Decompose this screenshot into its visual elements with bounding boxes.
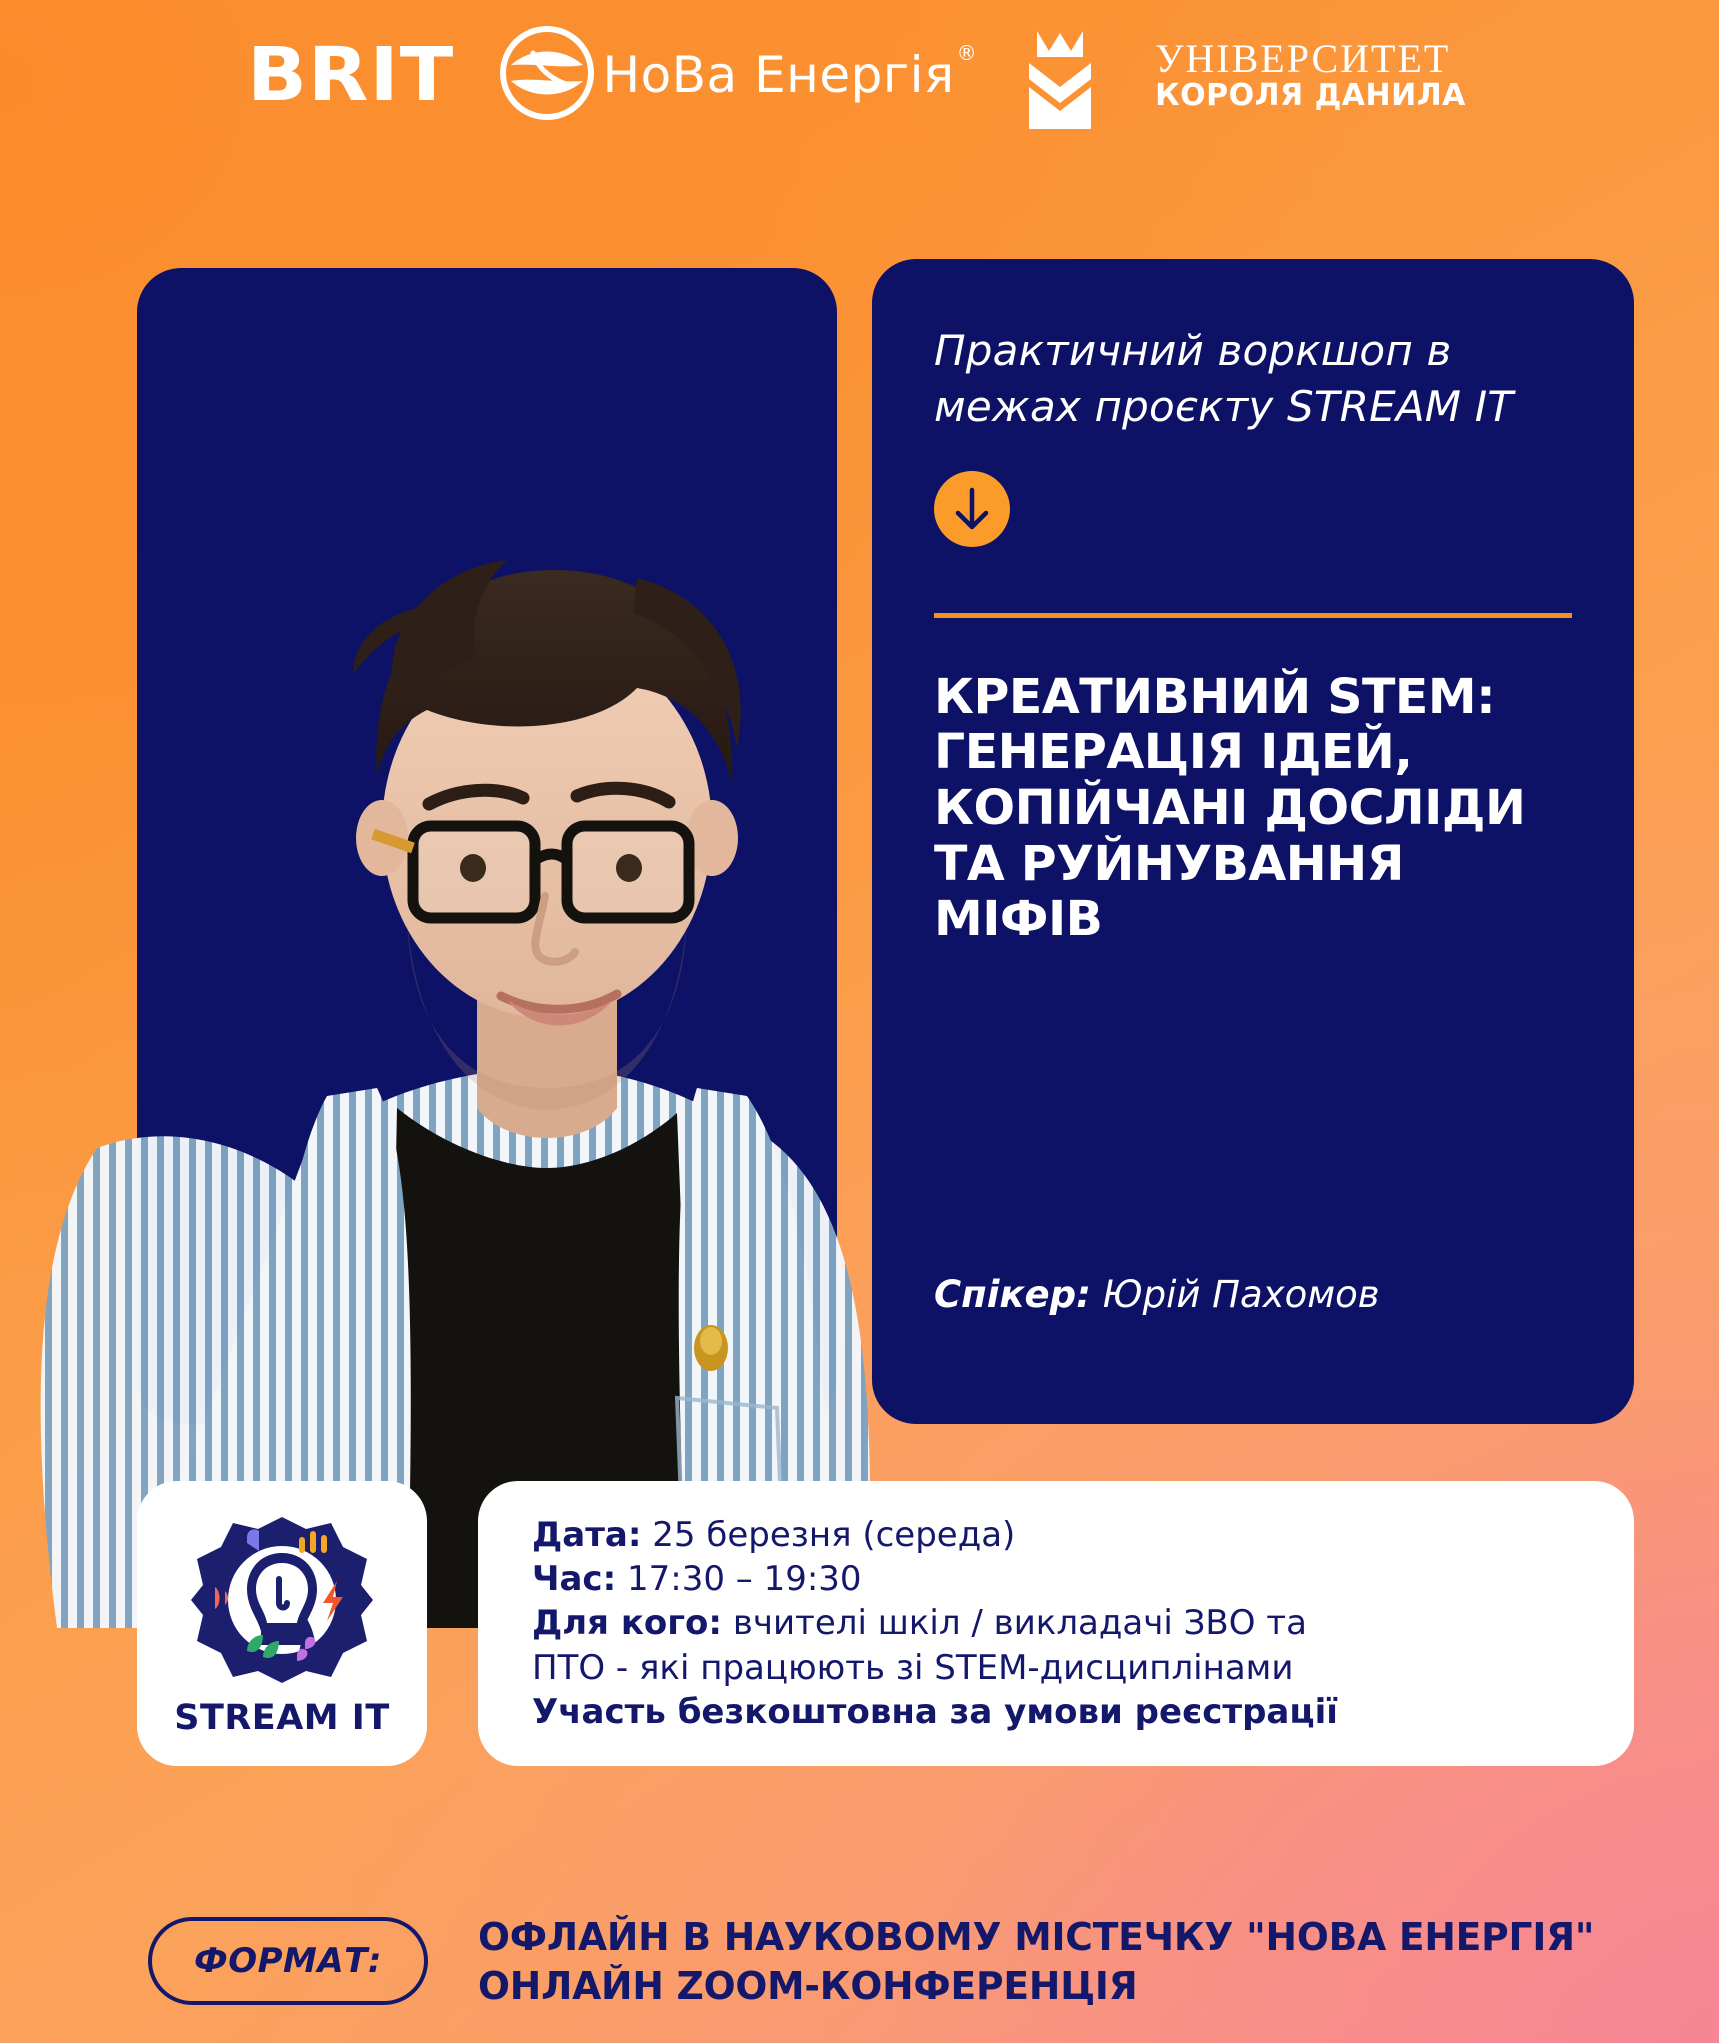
title-divider [934, 613, 1572, 618]
event-time-line: Час: 17:30 – 19:30 [532, 1557, 1580, 1601]
nova-energy-leaf-icon [497, 23, 597, 128]
speaker-label: Спікер: [934, 1273, 1091, 1316]
stream-it-label: STREAM IT [174, 1698, 389, 1738]
format-offline-line: ОФЛАЙН В НАУКОВОМУ МІСТЕЧКУ "НОВА ЕНЕРГІ… [478, 1913, 1646, 1962]
format-badge: ФОРМАТ: [148, 1917, 428, 2005]
registered-mark-icon: ® [957, 41, 978, 65]
event-time-label: Час: [532, 1559, 616, 1599]
event-details-card: Дата: 25 березня (середа) Час: 17:30 – 1… [478, 1481, 1634, 1766]
event-audience-value: вчителі шкіл / викладачі ЗВО та [733, 1603, 1307, 1643]
speaker-photo-card [137, 268, 837, 1424]
format-badge-label: ФОРМАТ: [194, 1941, 382, 1981]
nova-energy-name: НоВа Енергія [603, 46, 955, 104]
brit-logo: BRIT [247, 38, 454, 112]
event-audience-line-2: ПТО - які працюють зі STEM-дисциплінами [532, 1646, 1580, 1690]
format-online-line: ОНЛАЙН ZOOM-КОНФЕРЕНЦІЯ [478, 1962, 1646, 2011]
event-time-value: 17:30 – 19:30 [627, 1559, 862, 1599]
event-date-value: 25 березня (середа) [652, 1515, 1015, 1555]
workshop-info-card: Практичний воркшоп в межах проєкту STREA… [872, 259, 1634, 1424]
event-audience-label: Для кого: [532, 1603, 722, 1643]
nova-energy-logo: НоВа Енергія® [497, 23, 976, 128]
event-date-line: Дата: 25 березня (середа) [532, 1513, 1580, 1557]
event-free-note: Участь безкоштовна за умови реєстрації [532, 1690, 1580, 1734]
speaker-photo-frame [137, 268, 837, 1424]
university-logo: УНІВЕРСИТЕТ КОРОЛЯ ДАНИЛА [1023, 17, 1466, 134]
arrow-down-icon [934, 471, 1010, 547]
crown-book-icon [1023, 17, 1141, 134]
poster-root: BRIT НоВа Енергія® [0, 0, 1719, 2043]
gear-head-idea-icon [191, 1509, 373, 1696]
event-date-label: Дата: [532, 1515, 641, 1555]
partner-logo-bar: BRIT НоВа Енергія® [0, 0, 1719, 150]
speaker-line: Спікер: Юрій Пахомов [934, 1273, 1380, 1316]
university-wordmark: УНІВЕРСИТЕТ КОРОЛЯ ДАНИЛА [1155, 38, 1466, 112]
stream-it-logo-card: STREAM IT [137, 1481, 427, 1766]
speaker-name: Юрій Пахомов [1103, 1273, 1380, 1316]
page-title: КРЕАТИВНИЙ STEM: ГЕНЕРАЦІЯ ІДЕЙ, КОПІЙЧА… [934, 670, 1585, 948]
workshop-kicker: Практичний воркшоп в межах проєкту STREA… [934, 323, 1572, 435]
nova-energy-wordmark: НоВа Енергія® [603, 50, 976, 100]
university-line-1: УНІВЕРСИТЕТ [1155, 38, 1466, 80]
event-audience-line: Для кого: вчителі шкіл / викладачі ЗВО т… [532, 1601, 1580, 1645]
format-lines: ОФЛАЙН В НАУКОВОМУ МІСТЕЧКУ "НОВА ЕНЕРГІ… [478, 1913, 1658, 2012]
university-line-2: КОРОЛЯ ДАНИЛА [1155, 80, 1466, 112]
